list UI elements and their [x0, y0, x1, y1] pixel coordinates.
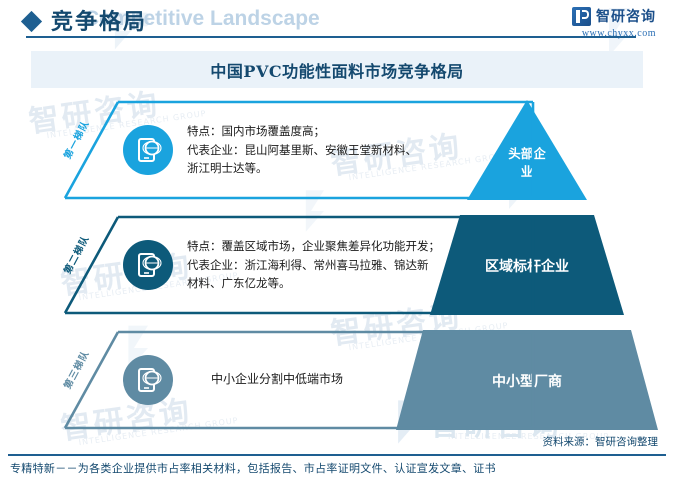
brand-block[interactable]: 智研咨询 www.chyxx.com: [572, 6, 656, 39]
chyxx-logo-icon: [572, 7, 591, 26]
source-note: 资料来源：智研咨询整理: [543, 434, 659, 449]
tier-3-text: 中小企业分割中低端市场: [187, 370, 343, 389]
header-title-cn: 竞争格局: [51, 4, 147, 36]
tablet-globe-glyph: [133, 250, 163, 280]
tier-1-body: 特点：国内市场覆盖度高； 代表企业：昆山阿基里斯、安徽王堂新材料、 浙江明士达等…: [121, 100, 535, 200]
tablet-globe-glyph: [133, 135, 163, 165]
brand-name: 智研咨询: [596, 6, 656, 26]
tier-row-2[interactable]: 第二梯队 特点：覆盖区域市场，企业聚焦差异化功能开发； 代表企业：浙江海利得、常…: [55, 215, 535, 315]
tablet-globe-glyph: [133, 365, 163, 395]
tier-row-1[interactable]: 第一梯队 特点：国内市场覆盖度高； 代表企业：昆山阿基里斯、安徽王堂新材料、 浙…: [55, 100, 535, 200]
tablet-globe-icon: [123, 240, 173, 290]
tier-3-body: 中小企业分割中低端市场: [121, 330, 535, 430]
header-divider: [26, 36, 636, 38]
chart-title-band: 中国PVC功能性面料市场竞争格局: [31, 51, 643, 88]
footer-divider: [8, 454, 666, 456]
brand-url[interactable]: www.chyxx.com: [572, 28, 656, 39]
slide-canvas: 智研咨询 INTELLIGENCE RESEARCH GROUP 智研咨询 IN…: [0, 0, 674, 478]
footer-note: 专精特新－－为各类企业提供市占率相关材料，包括报告、市占率证明文件、认证宣发文章…: [10, 460, 496, 476]
tablet-globe-icon: [123, 355, 173, 405]
tier-2-text: 特点：覆盖区域市场，企业聚焦差异化功能开发； 代表企业：浙江海利得、常州喜马拉雅…: [187, 237, 440, 293]
tier-2-body: 特点：覆盖区域市场，企业聚焦差异化功能开发； 代表企业：浙江海利得、常州喜马拉雅…: [121, 215, 535, 315]
diamond-icon: [21, 11, 42, 32]
tier-1-text: 特点：国内市场覆盖度高； 代表企业：昆山阿基里斯、安徽王堂新材料、 浙江明士达等…: [187, 122, 417, 178]
tier-rows: 第一梯队 特点：国内市场覆盖度高； 代表企业：昆山阿基里斯、安徽王堂新材料、 浙…: [0, 96, 674, 436]
tablet-globe-icon: [123, 125, 173, 175]
tier-row-3[interactable]: 第三梯队 中小企业分割中低端市场: [55, 330, 535, 430]
chart-title: 中国PVC功能性面料市场竞争格局: [210, 58, 463, 82]
brand-row: 智研咨询: [572, 6, 656, 26]
page-footer: 资料来源：智研咨询整理 专精特新－－为各类企业提供市占率相关材料，包括报告、市占…: [0, 434, 674, 478]
